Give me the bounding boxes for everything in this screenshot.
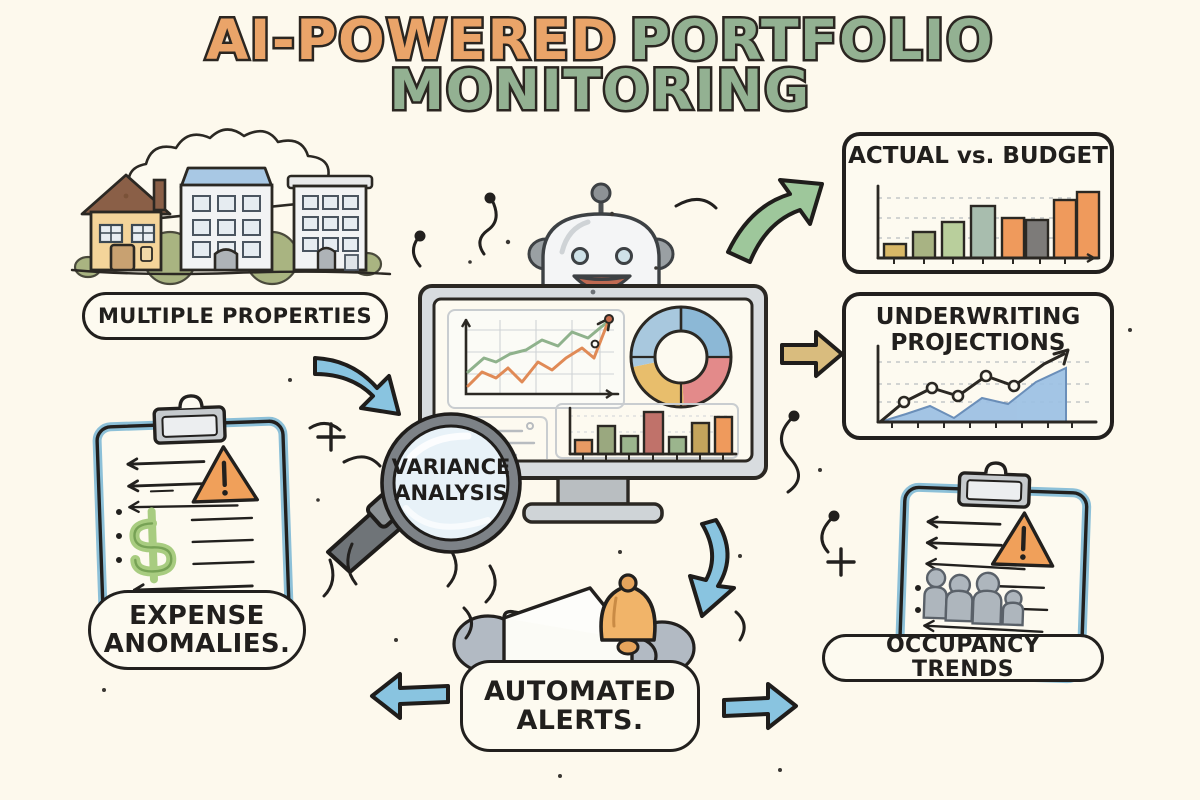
arrow-monitor-to-alerts: [690, 520, 734, 616]
infographic-canvas: AI-POWEREDPORTFOLIO MONITORING: [0, 0, 1200, 800]
plus-decoration-icon: [318, 424, 854, 575]
arrow-layer: [0, 0, 1200, 800]
arrow-alerts-to-occupancy: [724, 684, 796, 728]
arrow-monitor-to-actual-budget: [728, 180, 822, 262]
arrow-properties-to-monitor: [315, 358, 399, 414]
arrow-monitor-to-underwriting: [782, 332, 842, 376]
decorative-squiggles: [310, 194, 838, 640]
arrow-alerts-to-expense: [372, 674, 448, 718]
paper-speckles: [102, 212, 1132, 778]
